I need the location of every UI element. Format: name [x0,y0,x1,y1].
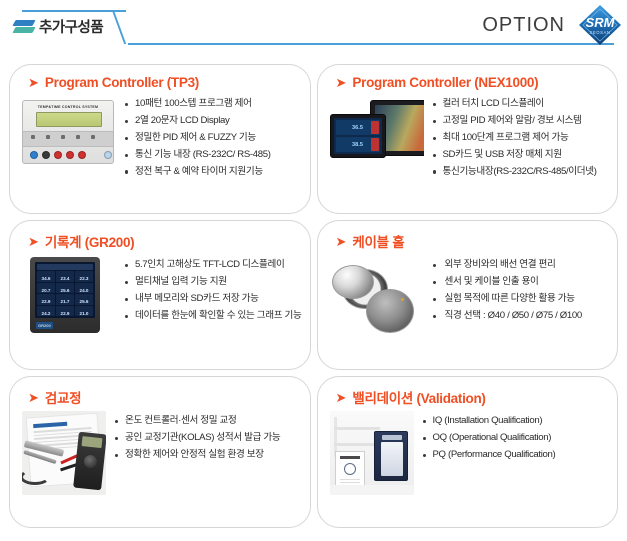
reading-value: 22.9 [61,311,70,317]
page-title: 추가구성품 [39,16,103,37]
card-title-row: ➤ Program Controller (NEX1000) [336,75,606,90]
button-row [30,151,112,159]
card-title-row: ➤ 밸리데이션 (Validation) [336,387,606,407]
validation-chamber-photo [330,411,414,495]
front-panel-device: 36.5 38.5 [330,114,386,158]
arrow-bullet-icon: ➤ [28,391,39,404]
reading-value: 38.5 [352,142,363,148]
arrow-bullet-icon: ➤ [336,391,347,404]
reading-value: 24.0 [80,288,89,294]
reading-value: 25.6 [80,299,89,305]
card-cable-hole[interactable]: ➤ 케이블 홀 외부 장비와의 배선 연결 편리 센서 및 케이블 인출 용이 … [317,220,619,370]
feature-list: IQ (Installation Qualification) OQ (Oper… [422,411,606,464]
list-item: 통신기능내장(RS-232C/RS-485/이더넷) [432,163,606,180]
card-title: 검교정 [45,387,81,407]
list-item: 정밀한 PID 제어 & FUZZY 기능 [124,130,298,147]
calibration-certificate-photo [22,411,106,495]
card-title: 케이블 홀 [352,231,404,251]
card-program-controller-nex1000[interactable]: ➤ Program Controller (NEX1000) 36.5 38.5… [317,64,619,214]
shelf [334,427,380,430]
card-title: Program Controller (TP3) [45,75,199,90]
nex1000-touch-panel-photo: 36.5 38.5 [330,94,424,172]
list-item: 외부 장비와의 배선 연결 편리 [432,257,606,274]
card-title-row: ➤ 검교정 [28,387,298,407]
list-item: 데이터를 한눈에 확인할 수 있는 그래프 기능 [124,308,301,325]
option-label: OPTION [482,14,565,37]
lcd-screen [36,112,102,127]
reading-value: 24.2 [42,311,51,317]
svg-text:SRM: SRM [586,15,616,30]
control-band [23,131,113,147]
card-title-row: ➤ Program Controller (TP3) [28,75,298,90]
card-body: TEMP&TIME CONTROL SYSTEM 10패턴 100스텝 프로그램… [22,94,298,180]
list-item: 5.7인치 고해상도 TFT-LCD 디스플레이 [124,257,301,274]
svg-text:SEOSAN: SEOSAN [589,30,610,35]
list-item: 내부 메모리와 SD카드 저장 가능 [124,291,301,308]
card-title: Program Controller (NEX1000) [352,75,538,90]
card-title: 기록계 (GR200) [45,231,134,251]
reading-value: 20.7 [42,288,51,294]
card-body: 34.6 23.4 22.3 20.7 25.6 24.0 22.9 21.7 [22,255,298,333]
device-logo: GR200 [36,322,53,329]
reading-value: 23.4 [61,276,70,282]
disc-large [366,289,414,333]
reading-value: 22.3 [80,276,89,282]
card-body: 온도 컨트롤러·센서 정밀 교정 공인 교정기관(KOLAS) 성적서 발급 가… [22,411,298,495]
feature-list: 외부 장비와의 배선 연결 편리 센서 및 케이블 인출 용이 실험 목적에 따… [432,255,606,324]
reading-value: 22.9 [42,299,51,305]
list-item: 10패턴 100스텝 프로그램 제어 [124,96,298,113]
card-program-controller-tp3[interactable]: ➤ Program Controller (TP3) TEMP&TIME CON… [9,64,311,214]
list-item: 실험 목적에 따른 다양한 활용 가능 [432,291,606,308]
list-item: 공인 교정기관(KOLAS) 성적서 발급 가능 [114,430,298,447]
card-title: 밸리데이션 (Validation) [352,387,485,407]
list-item: 정확한 제어와 안정적 실험 환경 보장 [114,447,298,464]
card-title-row: ➤ 케이블 홀 [336,231,606,251]
card-validation[interactable]: ➤ 밸리데이션 (Validation) [317,376,619,528]
feature-list: 10패턴 100스텝 프로그램 제어 2열 20문자 LCD Display 정… [124,94,298,180]
arrow-bullet-icon: ➤ [28,76,39,89]
cable-hole-discs-photo [330,255,424,333]
feature-list: 컬러 터치 LCD 디스플레이 고정밀 PID 제어와 알람/ 경보 시스템 최… [432,94,606,180]
reading-value: 21.0 [80,311,89,317]
list-item: 정전 복구 & 예약 타이머 지원기능 [124,163,298,180]
arrow-bullet-icon: ➤ [28,235,39,248]
card-calibration[interactable]: ➤ 검교정 [9,376,311,528]
feature-list: 온도 컨트롤러·센서 정밀 교정 공인 교정기관(KOLAS) 성적서 발급 가… [114,411,298,464]
feature-list: 5.7인치 고해상도 TFT-LCD 디스플레이 멀티채널 입력 기능 지원 내… [124,255,301,324]
two-parallelogram-logo-icon [14,19,34,34]
list-item: 최대 100단계 프로그램 제어 가능 [432,130,606,147]
floor [330,485,414,495]
reading-row: 38.5 [336,137,380,152]
header-rule [128,43,614,45]
card-body: 외부 장비와의 배선 연결 편리 센서 및 케이블 인출 용이 실험 목적에 따… [330,255,606,333]
reading-value: 36.5 [352,125,363,131]
list-item: SD카드 및 USB 저장 매체 지원 [432,147,606,164]
card-title-row: ➤ 기록계 (GR200) [28,231,298,251]
led-indicators [31,135,95,139]
gr200-recorder-photo: 34.6 23.4 22.3 20.7 25.6 24.0 22.9 21.7 [22,255,116,333]
card-recorder-gr200[interactable]: ➤ 기록계 (GR200) 34.6 23.4 22.3 20.7 2 [9,220,311,370]
options-grid: ➤ Program Controller (TP3) TEMP&TIME CON… [0,56,627,541]
card-body: 36.5 38.5 컬러 터치 LCD 디스플레이 고정밀 PID 제어와 알람… [330,94,606,180]
arrow-bullet-icon: ➤ [336,235,347,248]
list-item: 2열 20문자 LCD Display [124,113,298,130]
reading-row: 36.5 [336,120,380,135]
reading-value: 25.6 [61,288,70,294]
validation-chamber [374,431,408,481]
arrow-bullet-icon: ➤ [336,76,347,89]
list-item: 멀티채널 입력 기능 지원 [124,274,301,291]
list-item: 센서 및 케이블 인출 용이 [432,274,606,291]
list-item: IQ (Installation Qualification) [422,413,606,430]
reading-value: 34.6 [42,276,51,282]
page-header: 추가구성품 OPTION SRM SEOSAN [0,0,627,52]
multimeter [73,432,106,491]
srm-brand-logo-icon: SRM SEOSAN [577,3,623,47]
list-item: 컬러 터치 LCD 디스플레이 [432,96,606,113]
list-item: 통신 기능 내장 (RS-232C/ RS-485) [124,147,298,164]
disc-cover [332,265,374,299]
recorder-screen: 34.6 23.4 22.3 20.7 25.6 24.0 22.9 21.7 [35,262,95,318]
card-body: IQ (Installation Qualification) OQ (Oper… [330,411,606,495]
reading-value: 21.7 [61,299,70,305]
list-item: OQ (Operational Qualification) [422,430,606,447]
list-item: 직경 선택 : Ø40 / Ø50 / Ø75 / Ø100 [432,308,606,325]
shelf [334,443,380,446]
list-item: 고정밀 PID 제어와 알람/ 경보 시스템 [432,113,606,130]
tp3-controller-photo: TEMP&TIME CONTROL SYSTEM [22,94,116,172]
list-item: PQ (Performance Qualification) [422,447,606,464]
header-tab: 추가구성품 [8,10,126,42]
device-caption: TEMP&TIME CONTROL SYSTEM [23,105,113,109]
list-item: 온도 컨트롤러·센서 정밀 교정 [114,413,298,430]
